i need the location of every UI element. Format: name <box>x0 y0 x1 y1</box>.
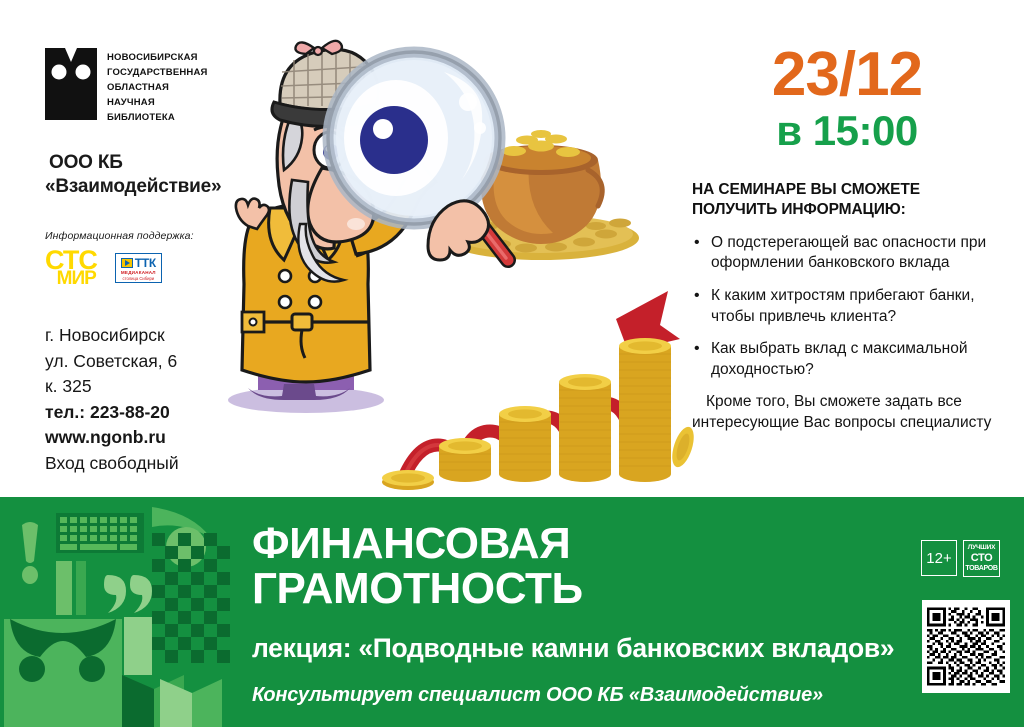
right-info-column: 23/12 в 15:00 НА СЕМИНАРЕ ВЫ СМОЖЕТЕ ПОЛ… <box>692 44 1002 434</box>
illustration-svg <box>196 10 696 495</box>
list-item: О подстерегающей вас опасности при оформ… <box>692 233 1002 274</box>
quality-mark-mid: СТО <box>971 553 992 564</box>
ctc-mir-logo: СТС МИР <box>45 249 97 288</box>
seminar-heading-line-1: НА СЕМИНАРЕ ВЫ СМОЖЕТЕ <box>692 180 1002 200</box>
ttk-logo-top: ТТК <box>118 256 159 270</box>
ttk-logo-sub1: МЕДИАКАНАЛ <box>118 270 159 276</box>
library-name-line-2: ГОСУДАРСТВЕННАЯ <box>107 65 208 80</box>
poster: НОВОСИБИРСКАЯ ГОСУДАРСТВЕННАЯ ОБЛАСТНАЯ … <box>0 0 1024 727</box>
library-name: НОВОСИБИРСКАЯ ГОСУДАРСТВЕННАЯ ОБЛАСТНАЯ … <box>107 48 208 125</box>
coin-stacks-growth-chart <box>382 291 696 490</box>
seminar-topics-list: О подстерегающей вас опасности при оформ… <box>692 233 1002 381</box>
banner-subtitle: лекция: «Подводные камни банковских вкла… <box>252 634 912 663</box>
library-name-line-1: НОВОСИБИРСКАЯ <box>107 50 208 65</box>
banner-consultant-note: Консультирует специалист ООО КБ «Взаимод… <box>252 684 912 706</box>
library-name-line-3: ОБЛАСТНАЯ <box>107 80 208 95</box>
age-rating-badge: 12+ <box>921 540 957 576</box>
event-date: 23/12 <box>692 44 1002 106</box>
decorative-pattern <box>0 497 240 727</box>
qr-code[interactable] <box>922 600 1010 693</box>
owl-face-pattern <box>4 619 122 727</box>
qr-code-svg <box>927 605 1005 688</box>
owl-logo-icon <box>45 48 97 120</box>
ttk-logo: ТТК МЕДИАКАНАЛ столица Сибири <box>115 253 162 283</box>
seminar-heading: НА СЕМИНАРЕ ВЫ СМОЖЕТЕ ПОЛУЧИТЬ ИНФОРМАЦ… <box>692 180 1002 220</box>
ttk-logo-sub2: столица Сибири <box>118 276 159 281</box>
coin-stack-5 <box>619 338 696 482</box>
quality-mark-badge: ЛУЧШИХ СТО ТОВАРОВ <box>963 540 1000 577</box>
green-banner: ФИНАНСОВАЯ ГРАМОТНОСТЬ лекция: «Подводны… <box>0 497 1024 727</box>
list-item: К каким хитростям прибегают банки, чтобы… <box>692 286 1002 327</box>
detective-character <box>228 41 508 413</box>
coin-stack-4 <box>559 374 611 482</box>
play-icon <box>121 258 133 268</box>
seminar-heading-line-2: ПОЛУЧИТЬ ИНФОРМАЦИЮ: <box>692 200 1002 220</box>
quality-mark-bottom: ТОВАРОВ <box>965 565 997 572</box>
ttk-logo-name: ТТК <box>135 256 156 270</box>
library-name-line-5: БИБЛИОТЕКА <box>107 110 208 125</box>
coin-stack-3 <box>499 406 551 482</box>
seminar-extra-note: Кроме того, Вы сможете задать все интере… <box>692 392 1002 433</box>
coin-stack-1 <box>382 470 434 490</box>
quality-mark-top: ЛУЧШИХ <box>968 545 996 552</box>
event-time: в 15:00 <box>692 106 1002 156</box>
library-name-line-4: НАУЧНАЯ <box>107 95 208 110</box>
banner-text-block: ФИНАНСОВАЯ ГРАМОТНОСТЬ лекция: «Подводны… <box>252 522 912 706</box>
coin-stack-2 <box>439 438 491 482</box>
badge-group: 12+ ЛУЧШИХ СТО ТОВАРОВ <box>921 540 1000 577</box>
detective-money-illustration <box>196 10 696 495</box>
list-item: Как выбрать вклад с максимальной доходно… <box>692 339 1002 380</box>
keyboard-icon <box>56 513 144 553</box>
banner-title: ФИНАНСОВАЯ ГРАМОТНОСТЬ <box>252 522 912 612</box>
